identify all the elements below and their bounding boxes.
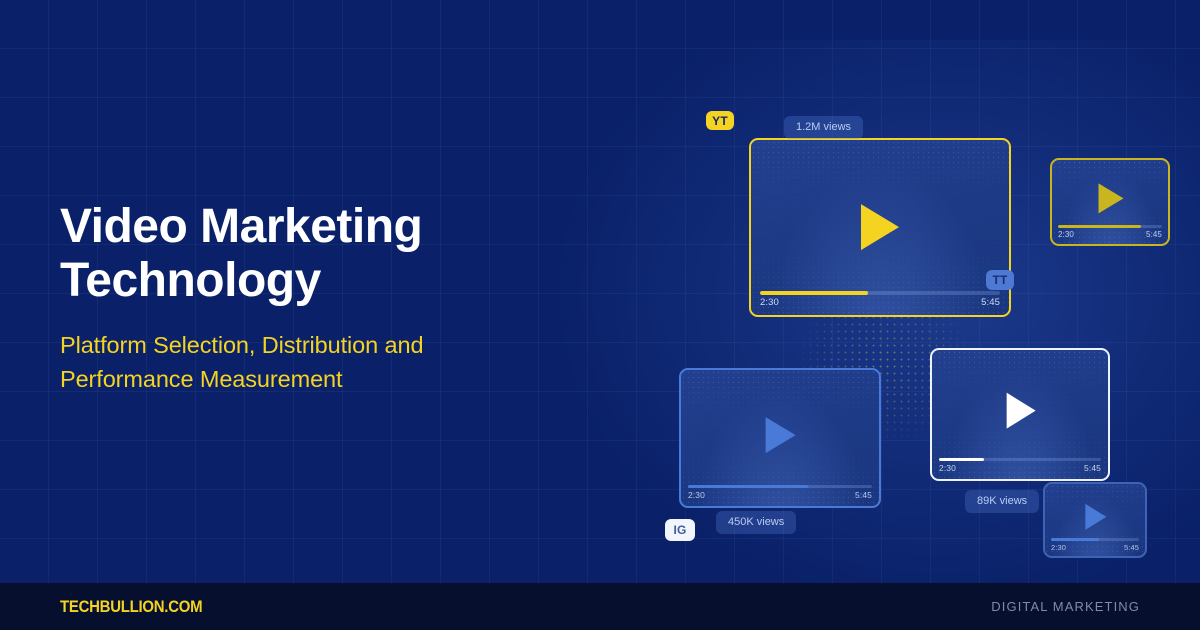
card-footer: 2:30 5:45	[681, 485, 879, 507]
time-current: 2:30	[688, 490, 705, 500]
card-footer: 2:30 5:45	[751, 291, 1009, 315]
time-total: 5:45	[981, 297, 1000, 308]
footer-bar: TECHBULLION.COM DIGITAL MARKETING	[0, 583, 1200, 630]
progress-fill	[688, 485, 808, 489]
footer-category: DIGITAL MARKETING	[991, 599, 1140, 614]
video-card-top-right[interactable]: 2:30 5:45	[1050, 158, 1170, 246]
video-card-primary[interactable]: 2:30 5:45	[749, 138, 1011, 317]
time-total: 5:45	[1084, 463, 1101, 473]
time-current: 2:30	[1051, 543, 1066, 552]
video-card-bottom-right[interactable]: 2:30 5:45	[1043, 482, 1147, 558]
play-icon[interactable]	[1007, 392, 1036, 428]
hero-text-block: Video Marketing Technology Platform Sele…	[60, 200, 540, 397]
platform-badge-tt[interactable]: TT	[986, 270, 1014, 290]
play-icon[interactable]	[766, 417, 796, 453]
progress-track[interactable]	[760, 291, 1000, 295]
page-title: Video Marketing Technology	[60, 200, 540, 308]
progress-fill	[760, 291, 868, 295]
progress-fill	[939, 458, 984, 462]
time-row: 2:30 5:45	[688, 490, 872, 500]
time-row: 2:30 5:45	[1058, 230, 1162, 239]
progress-track[interactable]	[939, 458, 1101, 462]
page-subtitle: Platform Selection, Distribution and Per…	[60, 328, 540, 397]
time-row: 2:30 5:45	[939, 463, 1101, 473]
views-pill-primary: 1.2M views	[784, 116, 863, 139]
time-total: 5:45	[1124, 543, 1139, 552]
play-icon[interactable]	[1099, 183, 1124, 213]
play-icon[interactable]	[1085, 504, 1106, 530]
platform-badge-yt[interactable]: YT	[706, 111, 734, 130]
progress-track[interactable]	[1058, 225, 1162, 228]
play-icon[interactable]	[861, 204, 899, 250]
footer-brand[interactable]: TECHBULLION.COM	[60, 597, 202, 617]
time-current: 2:30	[939, 463, 956, 473]
time-current: 2:30	[760, 297, 779, 308]
progress-fill	[1051, 538, 1099, 541]
time-total: 5:45	[1146, 230, 1162, 239]
time-total: 5:45	[855, 490, 872, 500]
video-card-bottom-left[interactable]: 2:30 5:45	[679, 368, 881, 508]
time-current: 2:30	[1058, 230, 1074, 239]
video-card-mid-right[interactable]: 2:30 5:45	[930, 348, 1110, 481]
card-footer: 2:30 5:45	[1052, 225, 1168, 244]
views-pill-mid-right: 89K views	[965, 490, 1039, 513]
card-footer: 2:30 5:45	[932, 458, 1108, 480]
views-pill-bottom-left: 450K views	[716, 511, 796, 534]
progress-track[interactable]	[688, 485, 872, 489]
progress-track[interactable]	[1051, 538, 1139, 541]
time-row: 2:30 5:45	[1051, 543, 1139, 552]
platform-badge-ig[interactable]: IG	[665, 519, 695, 541]
time-row: 2:30 5:45	[760, 297, 1000, 308]
card-footer: 2:30 5:45	[1045, 538, 1145, 556]
progress-fill	[1058, 225, 1141, 228]
